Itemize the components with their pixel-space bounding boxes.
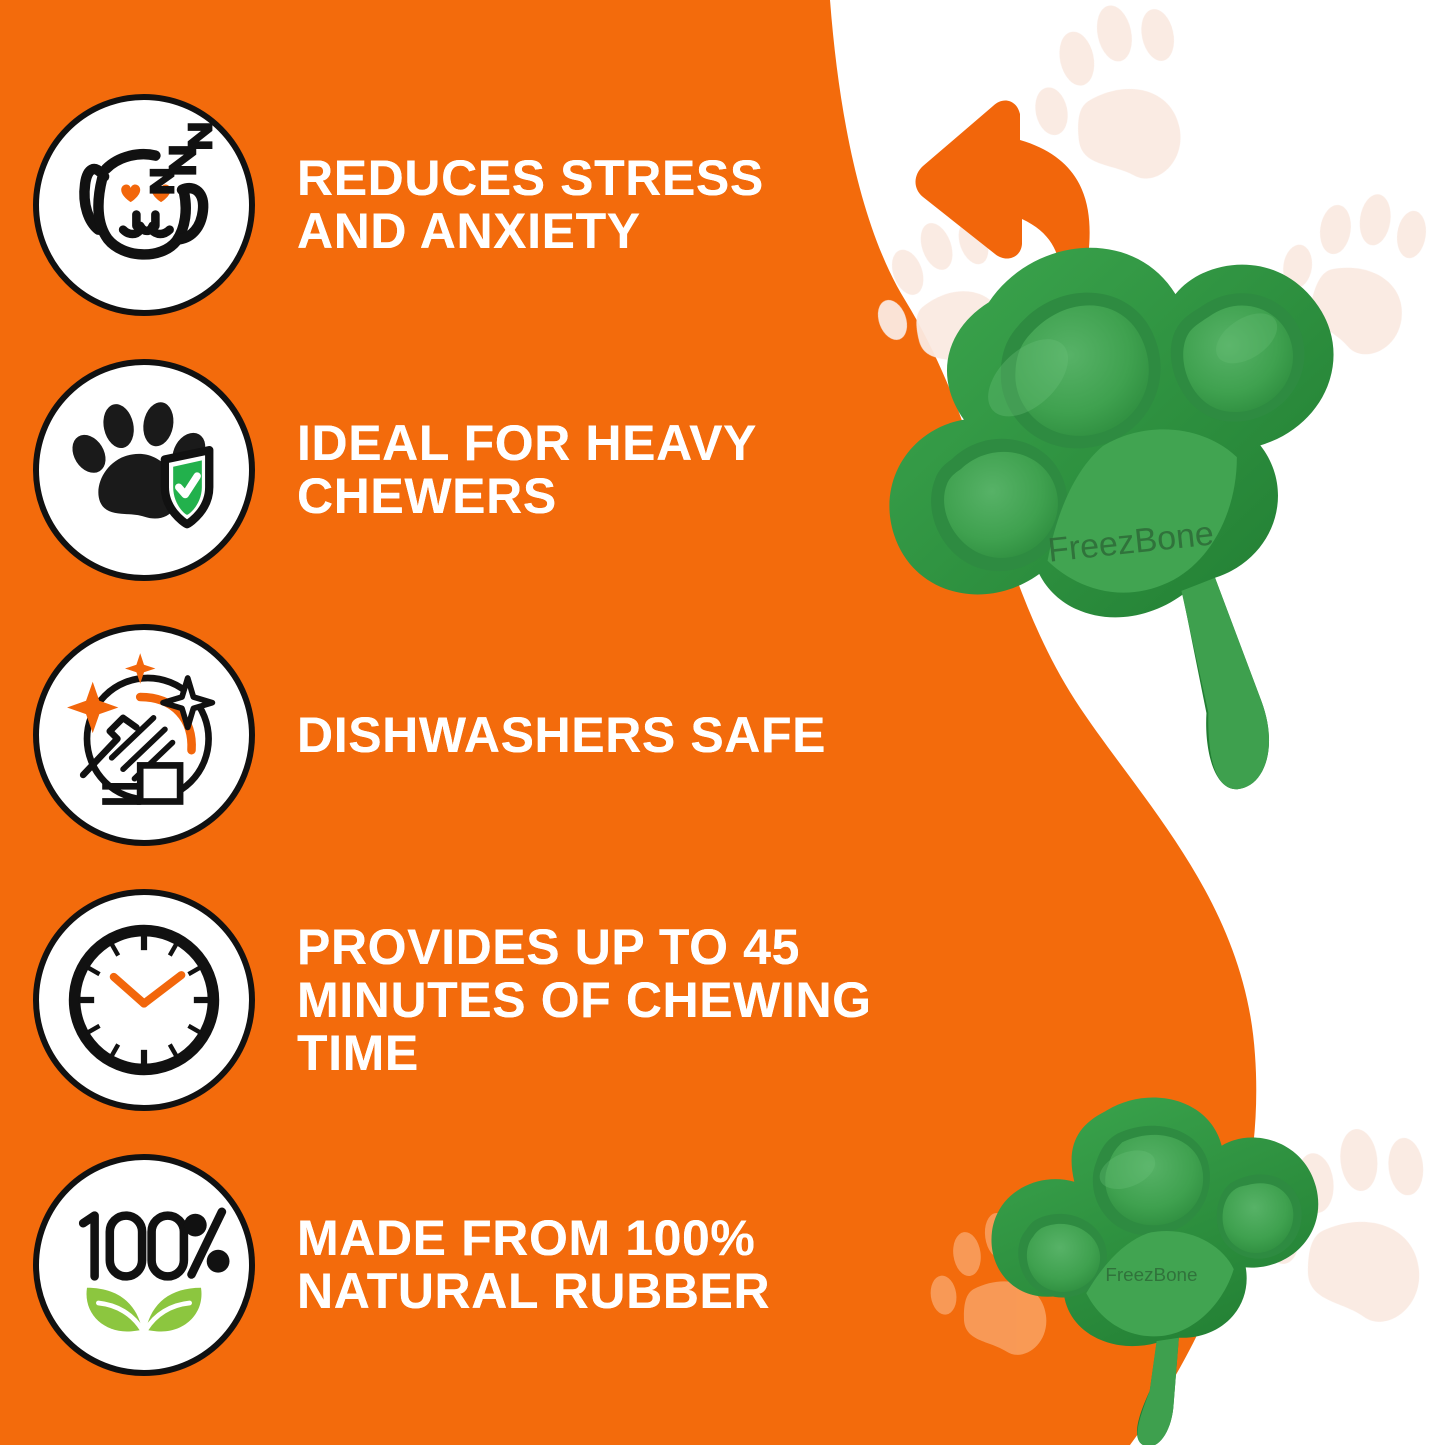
paw-shield-check-icon bbox=[33, 359, 255, 581]
hand-polish-sparkle-icon bbox=[33, 624, 255, 846]
hundred-percent-leaf-icon bbox=[33, 1154, 255, 1376]
feature-row-natural-rubber: MADE FROM 100% NATURAL RUBBER bbox=[33, 1154, 770, 1376]
feature-label-dishwasher-safe: DISHWASHERS SAFE bbox=[297, 709, 826, 762]
clock-icon bbox=[33, 889, 255, 1111]
feature-row-chewing-time: PROVIDES UP TO 45 MINUTES OF CHEWING TIM… bbox=[33, 889, 872, 1111]
infographic-canvas: REDUCES STRESS AND ANXIETY IDEAL FOR HEA… bbox=[0, 0, 1445, 1445]
product-image-shamrock-large: FreezBone bbox=[822, 205, 1422, 885]
feature-label-heavy-chewers: IDEAL FOR HEAVY CHEWERS bbox=[297, 417, 757, 523]
product-embossed-label: FreezBone bbox=[1105, 1264, 1197, 1285]
feature-row-heavy-chewers: IDEAL FOR HEAVY CHEWERS bbox=[33, 359, 757, 581]
feature-row-reduces-stress: REDUCES STRESS AND ANXIETY bbox=[33, 94, 764, 316]
product-image-shamrock-small: FreezBone bbox=[980, 1085, 1340, 1445]
sleeping-dog-icon bbox=[33, 94, 255, 316]
feature-label-chewing-time: PROVIDES UP TO 45 MINUTES OF CHEWING TIM… bbox=[297, 921, 872, 1080]
feature-row-dishwasher-safe: DISHWASHERS SAFE bbox=[33, 624, 826, 846]
feature-label-natural-rubber: MADE FROM 100% NATURAL RUBBER bbox=[297, 1212, 770, 1318]
feature-label-reduces-stress: REDUCES STRESS AND ANXIETY bbox=[297, 152, 764, 258]
